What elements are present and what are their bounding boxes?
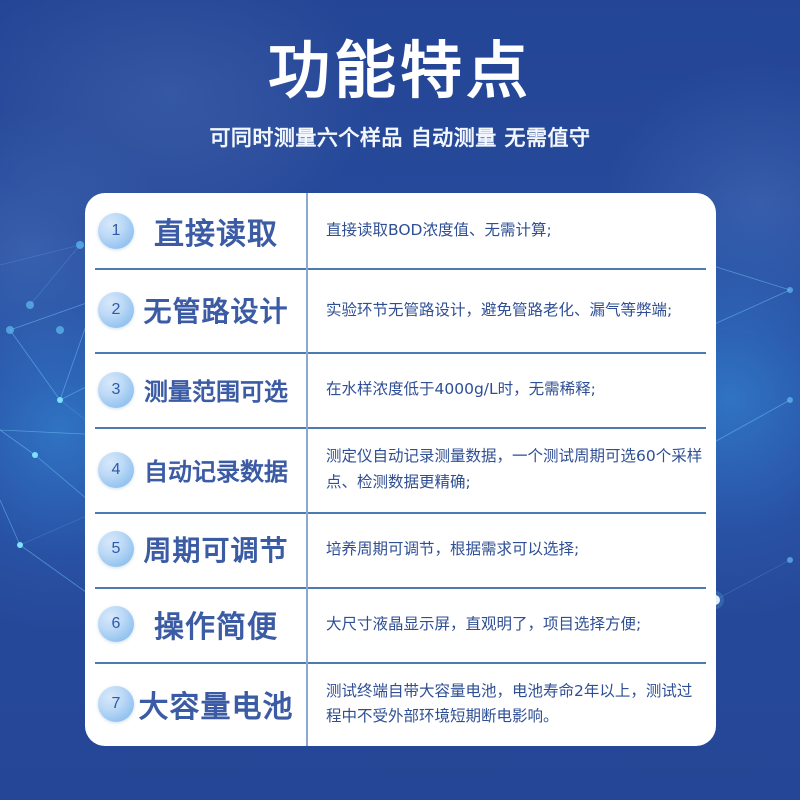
feature-description: 在水样浓度低于4000g/L时，无需稀释; — [326, 377, 596, 402]
feature-title-cell: 4 自动记录数据 — [85, 427, 308, 511]
feature-row-6: 6 操作简便 大尺寸液晶显示屏，直观明了，项目选择方便; — [85, 587, 716, 662]
feature-description: 培养周期可调节，根据需求可以选择; — [326, 537, 579, 562]
feature-title-cell: 3 测量范围可选 — [85, 352, 308, 427]
feature-number-badge: 2 — [98, 292, 134, 328]
feature-desc-cell: 培养周期可调节，根据需求可以选择; — [308, 512, 716, 587]
feature-rows: 1 直接读取 直接读取BOD浓度值、无需计算; 2 无管路设计 实验环节无管路设… — [85, 193, 716, 746]
feature-title: 自动记录数据 — [134, 452, 308, 487]
feature-title-cell: 2 无管路设计 — [85, 268, 308, 352]
feature-title-cell: 6 操作简便 — [85, 587, 308, 662]
feature-desc-cell: 测定仪自动记录测量数据，一个测试周期可选60个采样点、检测数据更精确; — [308, 427, 716, 511]
feature-description: 直接读取BOD浓度值、无需计算; — [326, 218, 552, 243]
page-header: 功能特点 可同时测量六个样品 自动测量 无需值守 — [0, 0, 800, 152]
feature-desc-cell: 大尺寸液晶显示屏，直观明了，项目选择方便; — [308, 587, 716, 662]
feature-number-badge: 1 — [98, 213, 134, 249]
page-title: 功能特点 — [0, 0, 800, 104]
feature-number-badge: 5 — [98, 531, 134, 567]
feature-number-badge: 7 — [98, 686, 134, 722]
feature-description: 大尺寸液晶显示屏，直观明了，项目选择方便; — [326, 612, 641, 637]
feature-row-5: 5 周期可调节 培养周期可调节，根据需求可以选择; — [85, 512, 716, 587]
feature-list-card: 1 直接读取 直接读取BOD浓度值、无需计算; 2 无管路设计 实验环节无管路设… — [85, 193, 716, 746]
feature-title: 周期可调节 — [134, 529, 308, 569]
feature-row-7: 7 大容量电池 测试终端自带大容量电池，电池寿命2年以上，测试过程中不受外部环境… — [85, 662, 716, 746]
feature-title: 操作简便 — [134, 602, 308, 646]
feature-number-badge: 6 — [98, 606, 134, 642]
feature-row-1: 1 直接读取 直接读取BOD浓度值、无需计算; — [85, 193, 716, 268]
promo-page: 功能特点 可同时测量六个样品 自动测量 无需值守 1 直接读取 直接读取BOD浓… — [0, 0, 800, 800]
page-subtitle: 可同时测量六个样品 自动测量 无需值守 — [0, 104, 800, 152]
feature-title: 直接读取 — [134, 209, 308, 253]
feature-row-3: 3 测量范围可选 在水样浓度低于4000g/L时，无需稀释; — [85, 352, 716, 427]
feature-number-badge: 4 — [98, 452, 134, 488]
feature-desc-cell: 直接读取BOD浓度值、无需计算; — [308, 193, 716, 268]
feature-description: 测定仪自动记录测量数据，一个测试周期可选60个采样点、检测数据更精确; — [326, 444, 706, 494]
feature-title-cell: 7 大容量电池 — [85, 662, 308, 746]
feature-desc-cell: 测试终端自带大容量电池，电池寿命2年以上，测试过程中不受外部环境短期断电影响。 — [308, 662, 716, 746]
feature-description: 实验环节无管路设计，避免管路老化、漏气等弊端; — [326, 298, 672, 323]
feature-description: 测试终端自带大容量电池，电池寿命2年以上，测试过程中不受外部环境短期断电影响。 — [326, 679, 706, 729]
feature-title: 无管路设计 — [134, 290, 308, 330]
feature-number-badge: 3 — [98, 372, 134, 408]
feature-row-4: 4 自动记录数据 测定仪自动记录测量数据，一个测试周期可选60个采样点、检测数据… — [85, 427, 716, 511]
feature-row-2: 2 无管路设计 实验环节无管路设计，避免管路老化、漏气等弊端; — [85, 268, 716, 352]
feature-title: 大容量电池 — [134, 682, 308, 726]
feature-desc-cell: 实验环节无管路设计，避免管路老化、漏气等弊端; — [308, 268, 716, 352]
feature-title-cell: 5 周期可调节 — [85, 512, 308, 587]
feature-title: 测量范围可选 — [134, 372, 308, 407]
feature-desc-cell: 在水样浓度低于4000g/L时，无需稀释; — [308, 352, 716, 427]
feature-title-cell: 1 直接读取 — [85, 193, 308, 268]
